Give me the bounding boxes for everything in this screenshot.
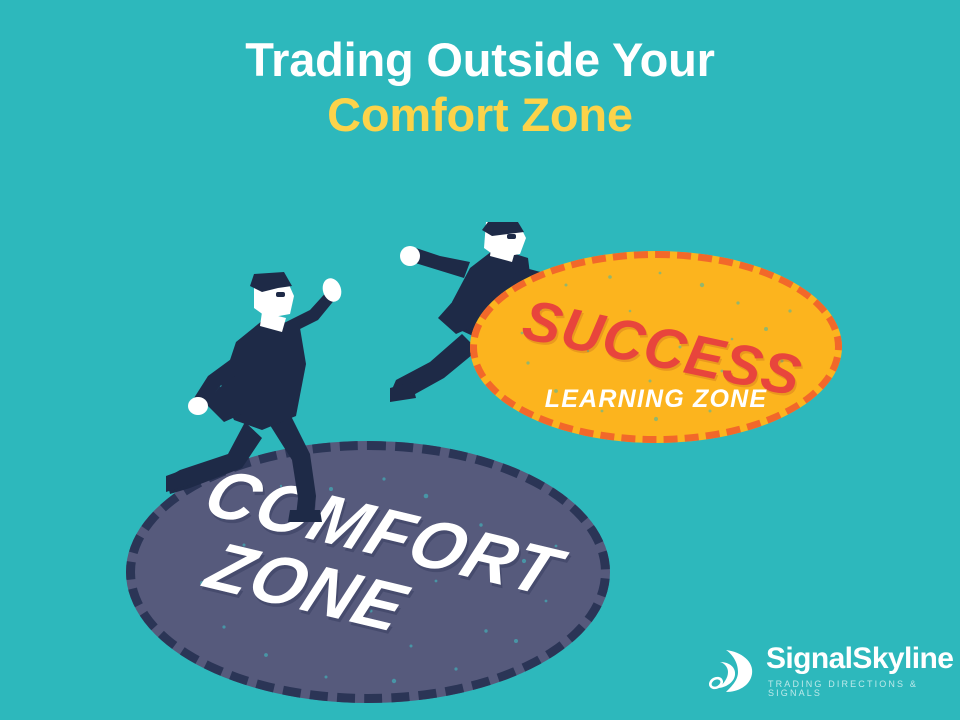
logo-wordmark: SignalSkyline	[766, 644, 953, 674]
title-line-2: Comfort Zone	[0, 91, 960, 139]
success-zone-ellipse	[470, 251, 842, 443]
poster-canvas: Trading Outside Your Comfort Zone COMFOR…	[0, 0, 960, 720]
logo-text-wrap: SignalSkyline TRADING DIRECTIONS & SIGNA…	[766, 644, 953, 698]
swoosh-icon	[708, 648, 758, 694]
brand-logo: SignalSkyline TRADING DIRECTIONS & SIGNA…	[708, 640, 938, 702]
comfort-zone-ellipse	[126, 441, 610, 703]
poster-title: Trading Outside Your Comfort Zone	[0, 36, 960, 139]
logo-tagline: TRADING DIRECTIONS & SIGNALS	[768, 680, 953, 698]
title-line-1: Trading Outside Your	[0, 36, 960, 84]
